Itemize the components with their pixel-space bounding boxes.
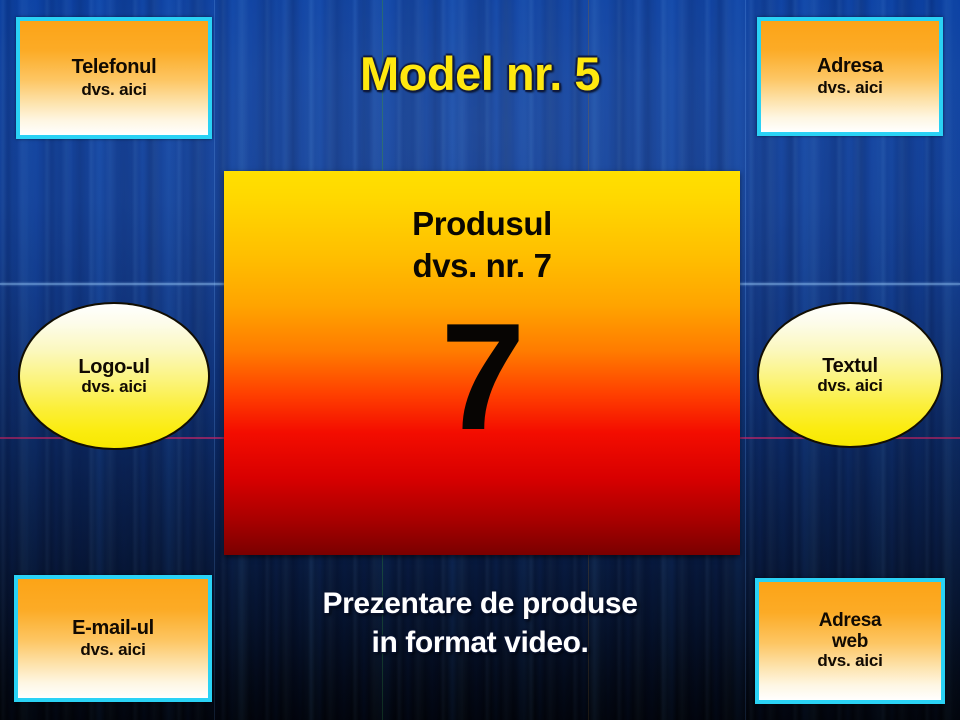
- placeholder-web-line2: web: [832, 632, 868, 653]
- placeholder-logo-line2: dvs. aici: [81, 378, 146, 397]
- placeholder-web-line3: dvs. aici: [817, 652, 882, 670]
- product-title: Produsul dvs. nr. 7: [412, 203, 552, 287]
- placeholder-email-line1: E-mail-ul: [72, 618, 154, 642]
- placeholder-text-line2: dvs. aici: [817, 377, 882, 396]
- placeholder-text-line1: Textul: [822, 355, 878, 377]
- slide-canvas: Model nr. 5 Telefonul dvs. aici Adresa d…: [0, 0, 960, 720]
- placeholder-logo-line1: Logo-ul: [78, 356, 149, 378]
- placeholder-phone-line1: Telefonul: [72, 57, 157, 81]
- caption-line2: in format video.: [150, 623, 810, 662]
- caption-line1: Prezentare de produse: [150, 584, 810, 623]
- product-number: 7: [441, 301, 524, 453]
- placeholder-address-line1: Adresa: [817, 56, 883, 80]
- placeholder-web-line1: Adresa: [819, 611, 882, 632]
- placeholder-box-address[interactable]: Adresa dvs. aici: [757, 17, 943, 136]
- product-title-line2: dvs. nr. 7: [412, 245, 552, 287]
- product-title-line1: Produsul: [412, 203, 552, 245]
- placeholder-circle-logo[interactable]: Logo-ul dvs. aici: [18, 302, 210, 450]
- placeholder-email-line2: dvs. aici: [80, 641, 145, 659]
- slide-caption: Prezentare de produse in format video.: [150, 584, 810, 662]
- product-panel[interactable]: Produsul dvs. nr. 7 7: [224, 171, 740, 555]
- placeholder-phone-line2: dvs. aici: [81, 81, 146, 99]
- placeholder-circle-text[interactable]: Textul dvs. aici: [757, 302, 943, 448]
- placeholder-address-line2: dvs. aici: [817, 79, 882, 97]
- placeholder-box-phone[interactable]: Telefonul dvs. aici: [16, 17, 212, 139]
